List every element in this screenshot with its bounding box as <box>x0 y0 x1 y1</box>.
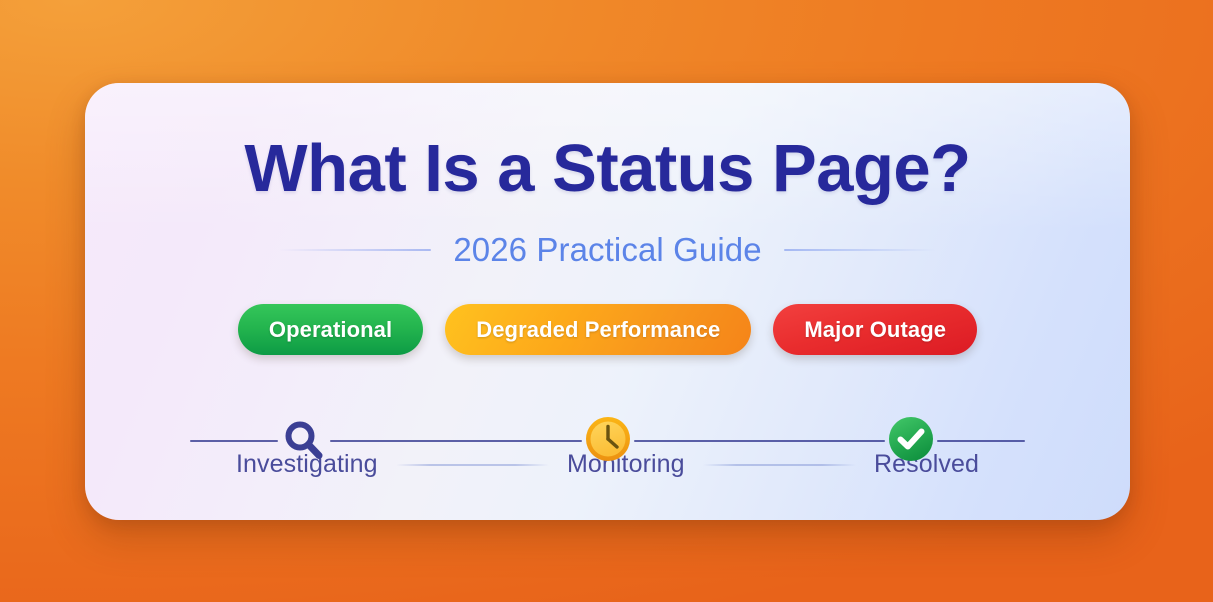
subtitle-row: 2026 Practical Guide <box>85 231 1130 269</box>
status-badge-major-outage-label: Major Outage <box>804 317 946 343</box>
timeline-node-investigating[interactable] <box>278 415 330 467</box>
page-title: What Is a Status Page? <box>85 135 1130 203</box>
label-connector-1 <box>396 464 549 466</box>
timeline-track <box>190 415 1025 467</box>
status-badge-degraded[interactable]: Degraded Performance <box>445 304 751 355</box>
timeline-segment-1 <box>330 440 582 442</box>
timeline-segment-2 <box>634 440 886 442</box>
status-badge-degraded-label: Degraded Performance <box>476 317 720 343</box>
clock-icon <box>584 415 632 468</box>
subtitle-rule-left <box>279 249 431 251</box>
timeline-segment-start <box>190 440 278 442</box>
status-badge-major-outage[interactable]: Major Outage <box>773 304 977 355</box>
status-badge-group: Operational Degraded Performance Major O… <box>85 304 1130 355</box>
magnifier-icon <box>279 416 329 466</box>
status-badge-operational[interactable]: Operational <box>238 304 423 355</box>
status-badge-operational-label: Operational <box>269 317 392 343</box>
timeline-node-resolved[interactable] <box>885 415 937 467</box>
page-subtitle: 2026 Practical Guide <box>453 231 761 269</box>
incident-timeline: Investigating Monitoring Resolved <box>190 388 1025 498</box>
poster-canvas: What Is a Status Page? 2026 Practical Gu… <box>0 0 1213 602</box>
label-connector-2 <box>703 464 856 466</box>
timeline-segment-end <box>937 440 1025 442</box>
check-circle-icon <box>887 415 935 468</box>
subtitle-rule-right <box>784 249 936 251</box>
status-page-card: What Is a Status Page? 2026 Practical Gu… <box>85 83 1130 520</box>
timeline-node-monitoring[interactable] <box>582 415 634 467</box>
